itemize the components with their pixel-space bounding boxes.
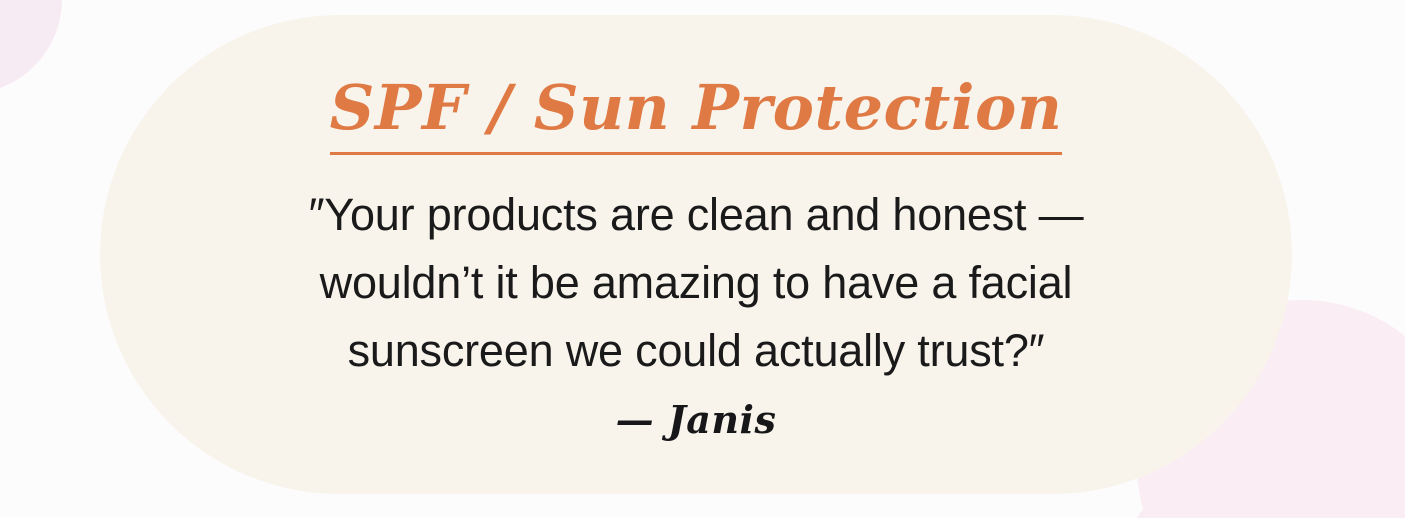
category-heading: SPF / Sun Protection <box>330 77 1063 155</box>
decorative-blob-top-left <box>0 0 62 94</box>
quote-attribution: — Janis <box>616 401 777 439</box>
quote-line: sunscreen we could actually trust?″ <box>309 317 1084 385</box>
quote-line: wouldn’t it be amazing to have a facial <box>309 249 1084 317</box>
quote-line: ″Your products are clean and honest — <box>309 181 1084 249</box>
testimonial-section: SPF / Sun Protection ″Your products are … <box>0 0 1405 518</box>
testimonial-card: SPF / Sun Protection ″Your products are … <box>100 15 1292 494</box>
quote-text: ″Your products are clean and honest — wo… <box>309 181 1084 385</box>
decorative-blob-bottom-right-secondary <box>1119 478 1309 518</box>
